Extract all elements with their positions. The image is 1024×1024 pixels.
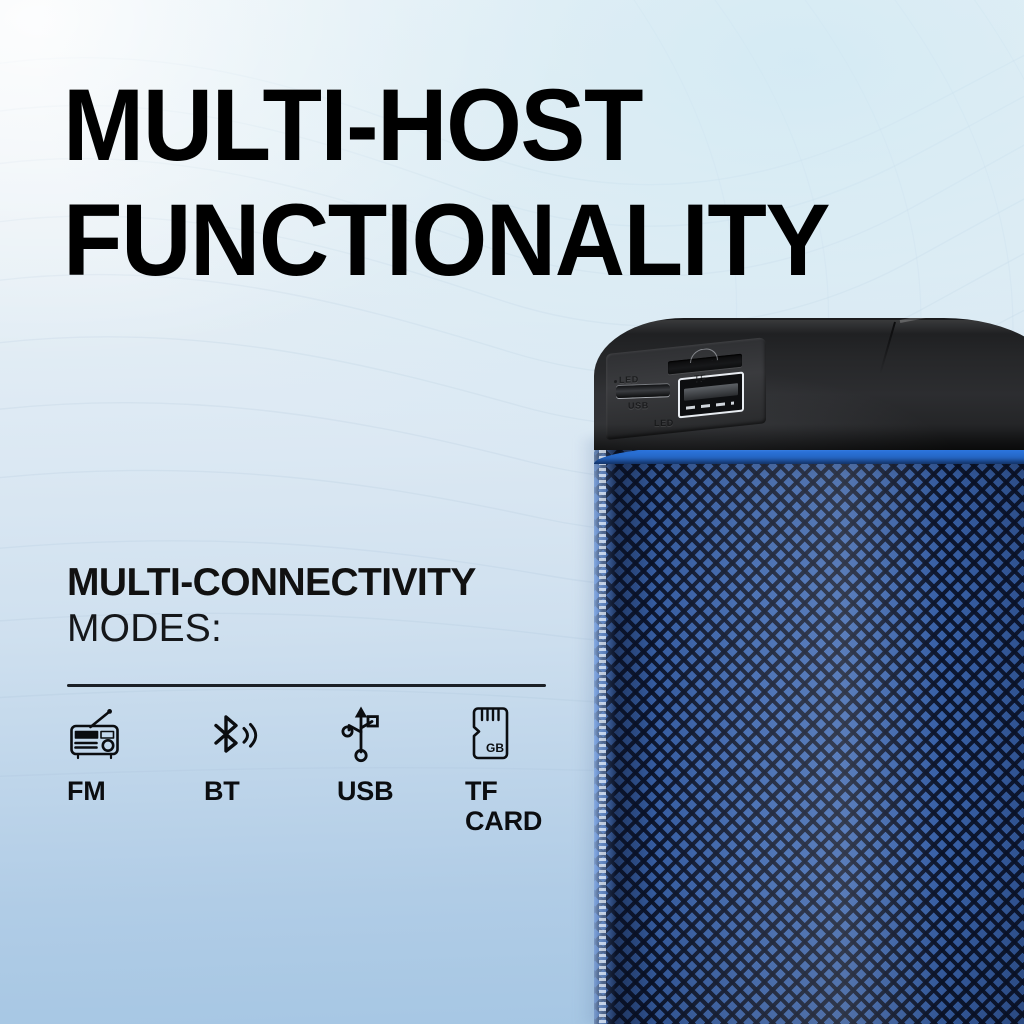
- product-image-speaker: LED TF USB LED: [594, 318, 1024, 1024]
- speaker-mesh-body: [594, 438, 1024, 1024]
- mode-item-tf-card: GB TF CARD: [465, 706, 567, 836]
- page-title: MULTI-HOST FUNCTIONALITY: [63, 68, 923, 298]
- speaker-mesh-vertical-shading: [594, 438, 1024, 1024]
- speaker-side-seam: [599, 438, 606, 1024]
- marketing-image: MULTI-HOST FUNCTIONALITY MULTI-CONNECTIV…: [0, 0, 1024, 1024]
- radio-icon: [67, 706, 204, 764]
- mode-label-bt: BT: [204, 776, 337, 806]
- mode-item-bt: BT: [204, 706, 337, 836]
- sd-card-icon: GB: [465, 706, 567, 764]
- subheading-block: MULTI-CONNECTIVITY MODES:: [67, 560, 607, 652]
- tf-card-slot-port: [668, 354, 742, 375]
- mode-label-fm: FM: [67, 776, 204, 806]
- mode-label-tf-card: TF CARD: [465, 776, 567, 836]
- usb-a-port: [678, 371, 744, 418]
- mode-label-usb: USB: [337, 776, 465, 806]
- mode-item-fm: FM: [67, 706, 204, 836]
- speaker-cap-shadow: [594, 424, 1024, 450]
- subheading-light: MODES:: [67, 605, 607, 652]
- sd-card-capacity-text: GB: [486, 741, 504, 755]
- micro-usb-port: [616, 384, 670, 398]
- speaker-cap-highlight: [612, 320, 1024, 334]
- port-label-led: LED: [619, 374, 639, 385]
- usb-icon: [337, 706, 465, 764]
- bluetooth-icon: [204, 706, 337, 764]
- subheading-strong: MULTI-CONNECTIVITY: [67, 560, 607, 605]
- port-label-usb: USB: [628, 400, 649, 410]
- divider: [67, 684, 546, 687]
- mode-item-usb: USB: [337, 706, 465, 836]
- connectivity-modes-list: FM BT: [67, 706, 567, 836]
- speaker-top-cap: LED TF USB LED: [594, 318, 1024, 450]
- port-label-tf: TF: [694, 372, 706, 383]
